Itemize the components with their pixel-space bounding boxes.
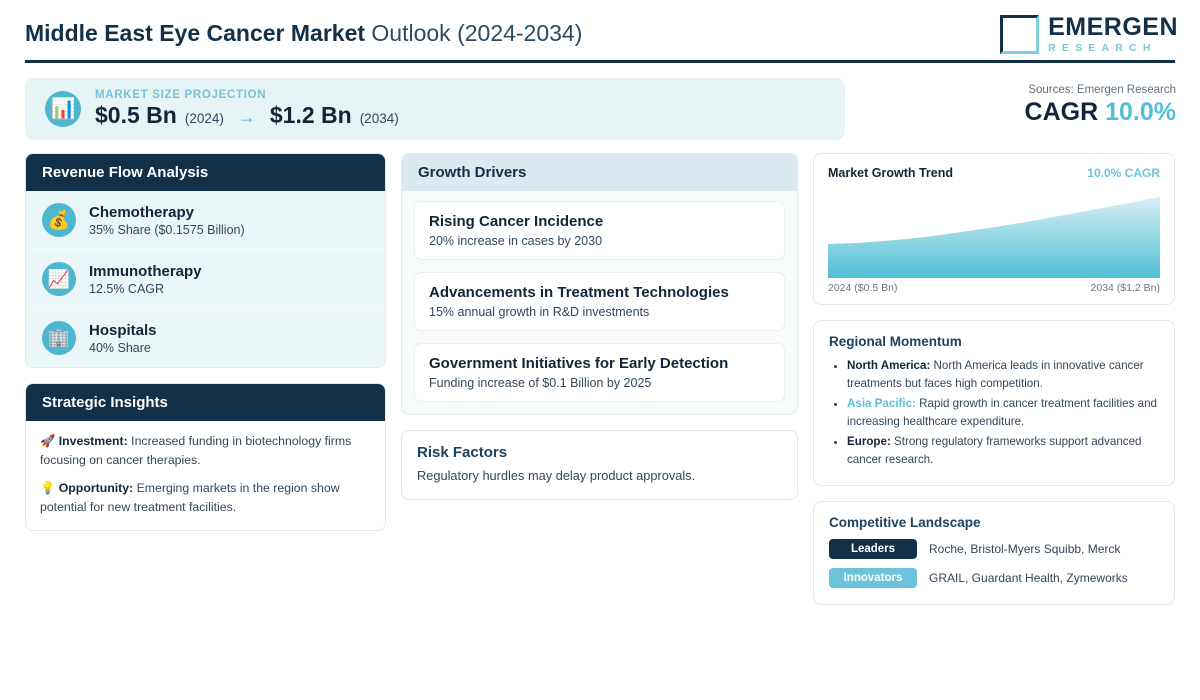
company-list: GRAIL, Guardant Health, Zymeworks [929, 571, 1128, 585]
page-title: Middle East Eye Cancer Market Outlook (2… [25, 20, 582, 47]
logo-secondary-text: RESEARCH [1048, 43, 1178, 54]
list-item-title: Advancements in Treatment Technologies [429, 284, 770, 301]
table-row: Innovators GRAIL, Guardant Health, Zymew… [829, 568, 1159, 588]
regional-momentum-title: Regional Momentum [829, 334, 1159, 349]
list-item-detail: 35% Share ($0.1575 Billion) [89, 223, 245, 237]
trend-start-label: 2024 ($0.5 Bn) [828, 282, 897, 294]
revenue-flow-title: Revenue Flow Analysis [26, 154, 385, 191]
cagr-value: 10.0% [1105, 98, 1176, 126]
banner-end-value: $1.2 Bn [270, 102, 352, 129]
trend-title: Market Growth Trend [828, 166, 953, 180]
cagr-label: CAGR [1025, 98, 1099, 126]
banner-content: MARKET SIZE PROJECTION $0.5 Bn (2024) → … [95, 89, 399, 129]
list-item-title: Government Initiatives for Early Detecti… [429, 355, 770, 372]
trend-header: Market Growth Trend 10.0% CAGR [828, 166, 1160, 180]
competitive-landscape-title: Competitive Landscape [829, 515, 1159, 530]
banner-start-year: (2024) [185, 111, 224, 126]
list-item[interactable]: Government Initiatives for Early Detecti… [414, 343, 785, 402]
risk-factors-title: Risk Factors [417, 444, 782, 461]
insight-label: Opportunity: [59, 481, 133, 495]
strategic-insights-title: Strategic Insights [26, 384, 385, 421]
list-item-name: Chemotherapy [89, 204, 245, 221]
insight-item: 💡 Opportunity: Emerging markets in the r… [40, 479, 371, 517]
list-item-detail: 15% annual growth in R&D investments [429, 305, 770, 319]
cagr-summary: Sources: Emergen Research CAGR 10.0% [1025, 84, 1176, 127]
list-item-detail: Funding increase of $0.1 Billion by 2025 [429, 376, 770, 390]
trend-axis-labels: 2024 ($0.5 Bn) 2034 ($1.2 Bn) [828, 282, 1160, 294]
logo-wordmark: EMERGEN RESEARCH [1048, 15, 1178, 54]
list-item[interactable]: 🏢 Hospitals 40% Share [26, 309, 385, 367]
status-badge: Leaders [829, 539, 917, 559]
trend-end-label: 2034 ($1.2 Bn) [1091, 282, 1160, 294]
growth-drivers-title: Growth Drivers [402, 154, 797, 191]
list-item-detail: 40% Share [89, 341, 157, 355]
banner-end-year: (2034) [360, 111, 399, 126]
rocket-icon: 🚀 [40, 434, 55, 448]
revenue-flow-list: 💰 Chemotherapy 35% Share ($0.1575 Billio… [26, 191, 385, 367]
list-item-body: Chemotherapy 35% Share ($0.1575 Billion) [89, 204, 245, 237]
list-item-detail: 20% increase in cases by 2030 [429, 234, 770, 248]
bar-chart-icon: 📊 [45, 91, 81, 127]
region-name: North America: [847, 359, 930, 372]
logo-primary-text: EMERGEN [1048, 15, 1178, 40]
page-title-light: Outlook (2024-2034) [371, 20, 582, 46]
market-growth-trend-card: Market Growth Trend 10.0% CAGR 2024 ($0.… [813, 153, 1175, 305]
list-item: Asia Pacific: Rapid growth in cancer tre… [847, 395, 1159, 431]
competitive-landscape-card: Competitive Landscape Leaders Roche, Bri… [813, 501, 1175, 605]
header-divider [25, 60, 1175, 63]
regional-momentum-list: North America: North America leads in in… [829, 357, 1159, 469]
risk-factors-card: Risk Factors Regulatory hurdles may dela… [401, 430, 798, 500]
sources-text: Sources: Emergen Research [1025, 84, 1176, 96]
growth-drivers-list: Rising Cancer Incidence 20% increase in … [402, 191, 797, 414]
regional-momentum-card: Regional Momentum North America: North A… [813, 320, 1175, 486]
insight-label: Investment: [59, 434, 128, 448]
list-item[interactable]: Advancements in Treatment Technologies 1… [414, 272, 785, 331]
strategic-insights-card: Strategic Insights 🚀 Investment: Increas… [25, 383, 386, 531]
list-item[interactable]: 📈 Immunotherapy 12.5% CAGR [26, 250, 385, 309]
growth-drivers-card: Growth Drivers Rising Cancer Incidence 2… [401, 153, 798, 415]
hospital-building-icon: 🏢 [42, 321, 76, 355]
arrow-right-icon: → [238, 107, 256, 128]
list-item-title: Rising Cancer Incidence [429, 213, 770, 230]
list-item[interactable]: 💰 Chemotherapy 35% Share ($0.1575 Billio… [26, 191, 385, 250]
infographic-page: Middle East Eye Cancer Market Outlook (2… [0, 0, 1200, 700]
trend-cagr-badge: 10.0% CAGR [1087, 166, 1160, 180]
money-bag-icon: 💰 [42, 203, 76, 237]
banner-label: MARKET SIZE PROJECTION [95, 89, 399, 101]
revenue-flow-card: Revenue Flow Analysis 💰 Chemotherapy 35%… [25, 153, 386, 368]
region-name: Europe: [847, 435, 891, 448]
list-item-body: Immunotherapy 12.5% CAGR [89, 263, 202, 296]
strategic-insights-body: 🚀 Investment: Increased funding in biote… [26, 421, 385, 530]
lightbulb-icon: 💡 [40, 481, 55, 495]
banner-values: $0.5 Bn (2024) → $1.2 Bn (2034) [95, 102, 399, 129]
list-item: North America: North America leads in in… [847, 357, 1159, 393]
list-item-name: Hospitals [89, 322, 157, 339]
list-item[interactable]: Rising Cancer Incidence 20% increase in … [414, 201, 785, 260]
insight-item: 🚀 Investment: Increased funding in biote… [40, 432, 371, 470]
status-badge: Innovators [829, 568, 917, 588]
middle-column: Growth Drivers Rising Cancer Incidence 2… [401, 153, 798, 500]
risk-factors-text: Regulatory hurdles may delay product app… [417, 468, 782, 483]
left-column: Revenue Flow Analysis 💰 Chemotherapy 35%… [25, 153, 386, 531]
trend-chart-svg [828, 190, 1160, 278]
brand-logo: EMERGEN RESEARCH [1000, 15, 1178, 54]
logo-square-icon [1000, 15, 1039, 54]
right-column: Market Growth Trend 10.0% CAGR 2024 ($0.… [813, 153, 1175, 605]
list-item-name: Immunotherapy [89, 263, 202, 280]
chart-increasing-icon: 📈 [42, 262, 76, 296]
market-size-banner: 📊 MARKET SIZE PROJECTION $0.5 Bn (2024) … [25, 78, 845, 140]
banner-start-value: $0.5 Bn [95, 102, 177, 129]
page-title-strong: Middle East Eye Cancer Market [25, 20, 365, 46]
page-header: Middle East Eye Cancer Market Outlook (2… [0, 0, 1200, 68]
list-item-body: Hospitals 40% Share [89, 322, 157, 355]
region-text: Strong regulatory frameworks support adv… [847, 435, 1142, 466]
trend-area-chart [828, 190, 1160, 278]
list-item: Europe: Strong regulatory frameworks sup… [847, 433, 1159, 469]
region-name: Asia Pacific: [847, 397, 916, 410]
table-row: Leaders Roche, Bristol-Myers Squibb, Mer… [829, 539, 1159, 559]
list-item-detail: 12.5% CAGR [89, 282, 202, 296]
company-list: Roche, Bristol-Myers Squibb, Merck [929, 542, 1120, 556]
cagr-headline: CAGR 10.0% [1025, 98, 1176, 127]
